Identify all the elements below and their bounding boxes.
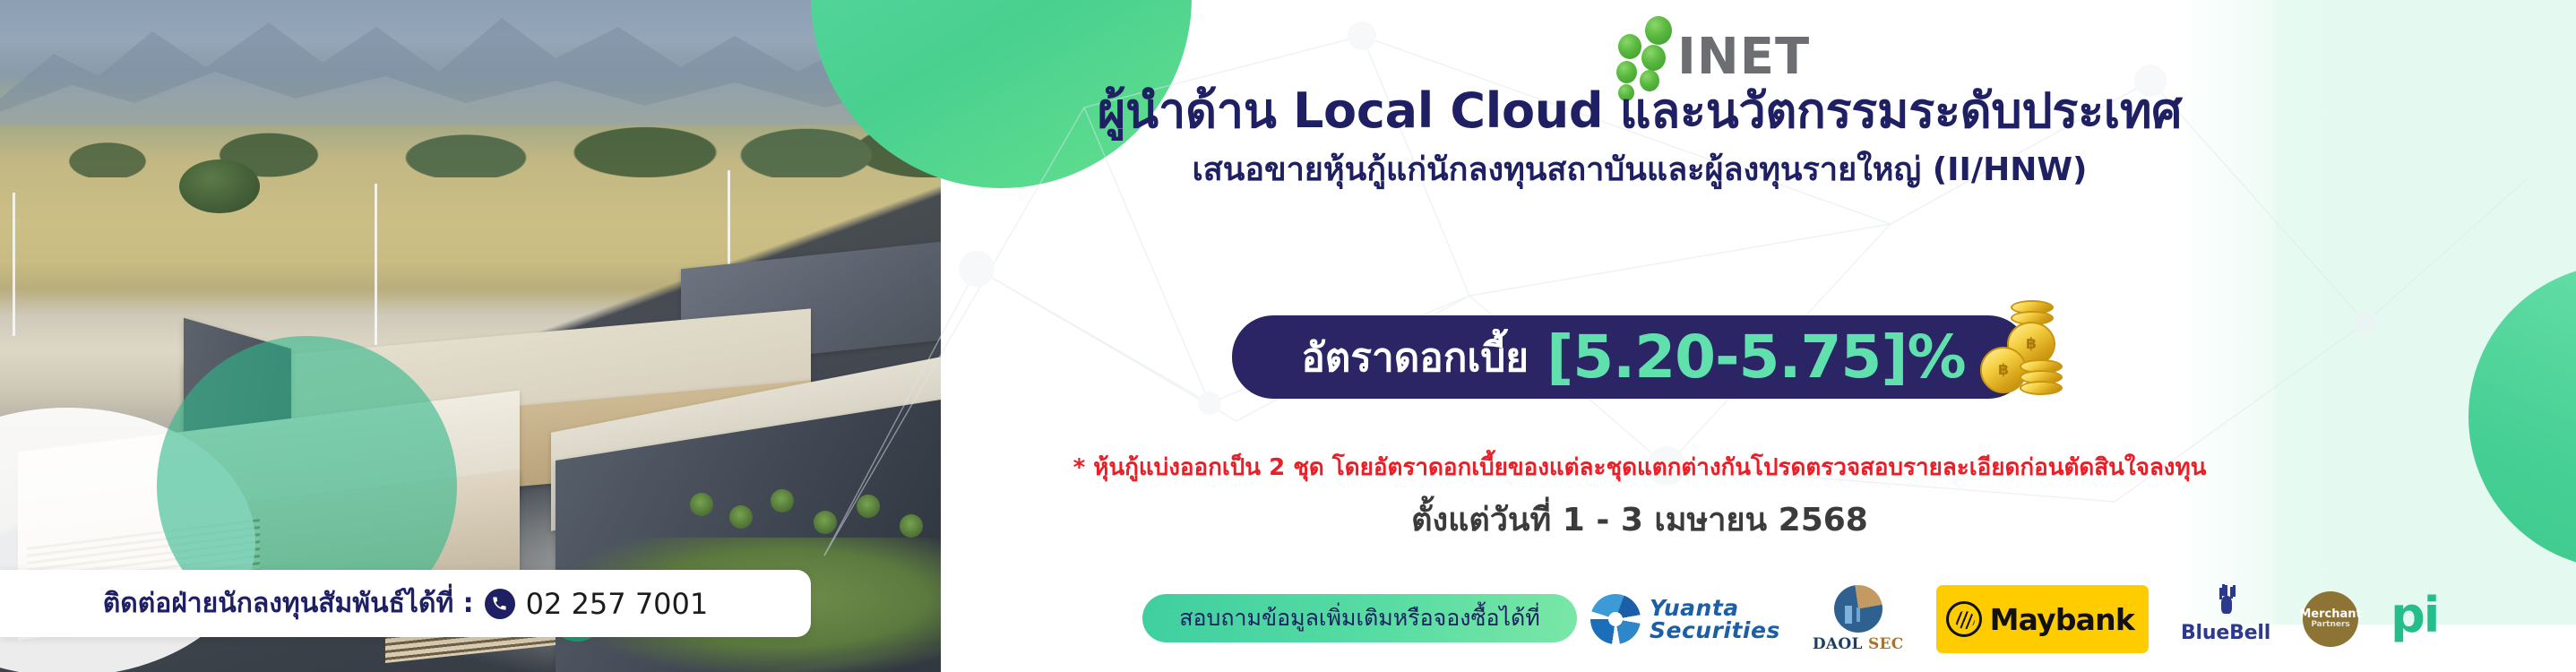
inet-logo: INET <box>1606 13 1901 82</box>
lone-tree <box>179 159 260 213</box>
maybank-tiger-icon <box>1946 601 1982 637</box>
partner-daol-sec[interactable]: DAOL SEC <box>1813 585 1904 653</box>
contact-phone-number[interactable]: 02 257 7001 <box>526 587 709 621</box>
daol-text-b: SEC <box>1868 635 1904 653</box>
merchant-partners-mark-icon: Merchant Partners <box>2303 591 2358 647</box>
maybank-wordmark: Maybank <box>1990 602 2134 637</box>
phone-icon <box>485 589 515 619</box>
partner-pi[interactable]: pi <box>2391 585 2438 653</box>
promotional-banner: INET ผู้นำด้าน Local Cloud และนวัตกรรมระ… <box>0 0 2576 672</box>
utility-pole <box>13 193 15 336</box>
content-column: INET ผู้นำด้าน Local Cloud และนวัตกรรมระ… <box>941 0 2576 672</box>
yuanta-line1: Yuanta <box>1650 597 1780 619</box>
daol-mark-icon <box>1834 585 1882 633</box>
interest-rate-label: อัตราดอกเบี้ย <box>1301 326 1529 389</box>
headline: ผู้นำด้าน Local Cloud และนวัตกรรมระดับปร… <box>941 83 2339 139</box>
partner-merchant-partners[interactable]: Merchant Partners <box>2303 585 2358 653</box>
offering-date-line: ตั้งแต่วันที่ 1 - 3 เมษายน 2568 <box>941 494 2339 545</box>
pi-wordmark: pi <box>2391 596 2438 642</box>
contact-label: ติดต่อฝ่ายนักลงทุนสัมพันธ์ได้ที่ : <box>103 582 474 625</box>
bluebell-wordmark: BlueBell <box>2181 622 2270 644</box>
merchant-line2: Partners <box>2311 621 2349 629</box>
inet-wordmark: INET <box>1677 34 1810 82</box>
interest-rate-value: [5.20-5.75]% <box>1546 328 1966 387</box>
subheadline: เสนอขายหุ้นกู้แก่นักลงทุนสถาบันและผู้ลงท… <box>941 151 2339 189</box>
investor-relations-contact-card: ติดต่อฝ่ายนักลงทุนสัมพันธ์ได้ที่ : 02 25… <box>0 570 811 637</box>
utility-pole <box>375 184 377 345</box>
daol-text-a: DAOL <box>1813 635 1863 653</box>
partner-bluebell[interactable]: BlueBell <box>2181 585 2270 653</box>
partner-maybank[interactable]: Maybank <box>1936 585 2149 653</box>
inet-dots-logo <box>1606 14 1672 82</box>
deer-icon <box>2210 585 2242 621</box>
cta-inquire-button[interactable]: สอบถามข้อมูลเพิ่มเติมหรือจองซื้อได้ที่ <box>1142 594 1577 642</box>
merchant-line1: Merchant <box>2299 608 2361 621</box>
partner-logo-row: Yuanta Securities DAOL SEC Maybank BlueB… <box>1590 582 2522 656</box>
utility-pole <box>728 170 730 278</box>
yuanta-mark-icon <box>1590 594 1641 644</box>
partner-yuanta-securities[interactable]: Yuanta Securities <box>1590 585 1780 653</box>
interest-rate-box: อัตราดอกเบี้ย [5.20-5.75]% <box>1232 315 2029 399</box>
yuanta-line2: Securities <box>1650 619 1780 642</box>
gold-coins-icon: ฿ ฿ <box>1980 300 2079 406</box>
footnote-disclaimer: * หุ้นกู้แบ่งออกเป็น 2 ชุด โดยอัตราดอกเบ… <box>941 449 2339 486</box>
